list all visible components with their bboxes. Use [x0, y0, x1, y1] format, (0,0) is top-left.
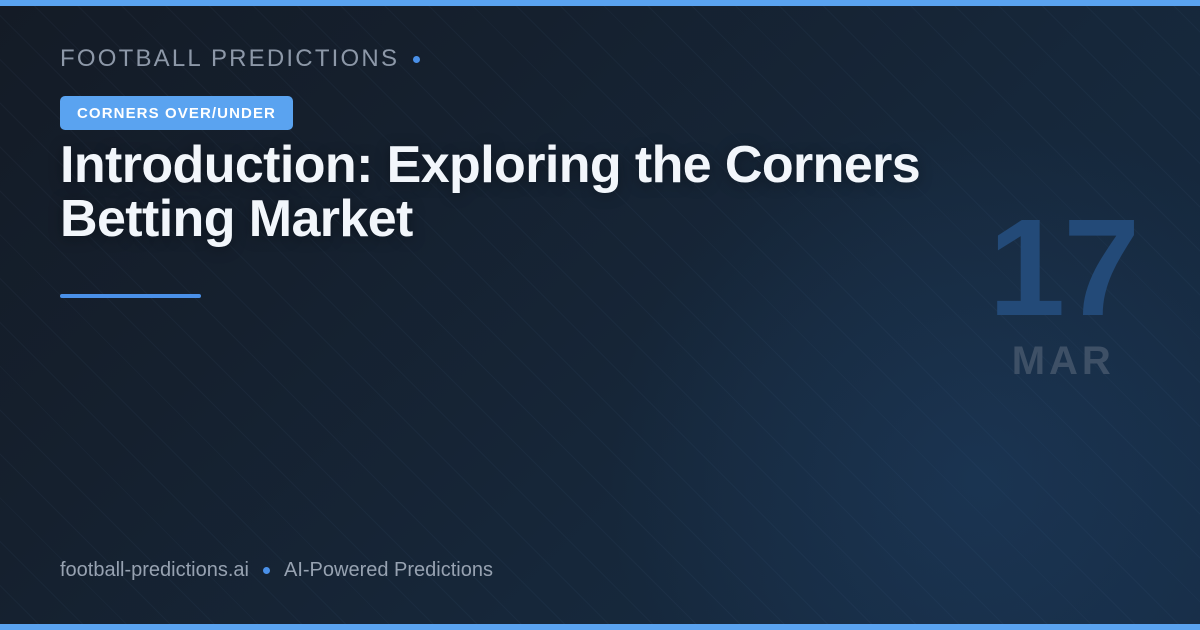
footer-site-url[interactable]: football-predictions.ai: [60, 559, 249, 582]
top-accent-bar: [0, 0, 1200, 6]
date-block: 17 MAR: [989, 212, 1139, 384]
date-month: MAR: [989, 339, 1139, 384]
page-title: Introduction: Exploring the Corners Bett…: [60, 138, 990, 246]
bottom-accent-bar: [0, 624, 1200, 630]
brand-eyebrow: FOOTBALL PREDICTIONS: [60, 45, 420, 73]
brand-eyebrow-label: FOOTBALL PREDICTIONS: [60, 45, 399, 73]
category-badge[interactable]: CORNERS OVER/UNDER: [60, 96, 293, 130]
dot-icon: [413, 56, 420, 63]
accent-rule: [60, 294, 201, 298]
social-share-card: 17 MAR FOOTBALL PREDICTIONS CORNERS OVER…: [0, 0, 1200, 630]
date-day: 17: [989, 212, 1139, 325]
footer-tagline: AI-Powered Predictions: [284, 559, 493, 582]
card-content: FOOTBALL PREDICTIONS CORNERS OVER/UNDER …: [60, 0, 960, 630]
dot-icon: [263, 567, 270, 574]
footer: football-predictions.ai AI-Powered Predi…: [60, 559, 493, 582]
